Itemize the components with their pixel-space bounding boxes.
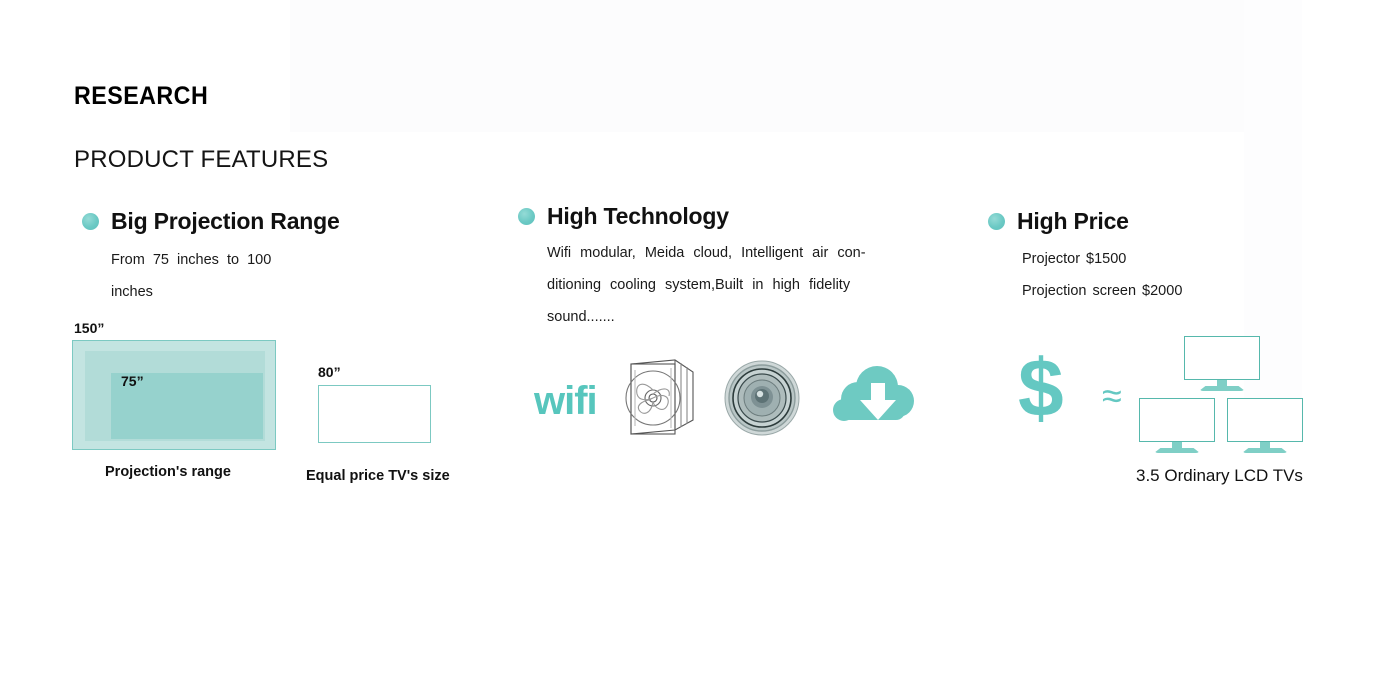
feature-block-high-technology: High Technology Wifi modular, Meida clou… [518, 203, 898, 333]
feature-block-high-price: High Price Projector $1500 Projection sc… [988, 208, 1318, 307]
tv-base [1154, 448, 1200, 453]
background-panel-top [290, 0, 1302, 132]
speaker-icon [723, 359, 801, 442]
teal-dot-icon [988, 213, 1005, 230]
projection-outer-label: 150” [74, 320, 104, 336]
feature-title: Big Projection Range [111, 208, 340, 235]
tv-size-rect [318, 385, 431, 443]
feature-title: High Price [1017, 208, 1129, 235]
feature-heading: High Technology [518, 203, 898, 230]
price-row-projector: Projector $1500 [1022, 243, 1318, 275]
feature-body-text: From 75 inches to 100 inches [111, 244, 303, 308]
lcd-tv-icon [1184, 336, 1260, 391]
tv-screen [1139, 398, 1215, 442]
tv-base [1199, 386, 1245, 391]
price-list: Projector $1500 Projection screen $2000 [1022, 243, 1318, 307]
tv-size-label: 80” [318, 364, 341, 380]
tv-stem [1260, 442, 1270, 448]
projection-mid-rect [85, 351, 265, 441]
cooling-fan-icon [623, 358, 697, 443]
feature-heading: Big Projection Range [82, 208, 412, 235]
tv-stem [1217, 380, 1227, 386]
eyebrow-title: RESEARCH [74, 82, 208, 111]
feature-body-line-1: Wifi modular, Meida cloud, Intelligent a… [547, 237, 898, 269]
feature-block-projection-range: Big Projection Range From 75 inches to 1… [82, 208, 412, 308]
tv-base [1242, 448, 1288, 453]
cloud-download-icon [827, 365, 919, 436]
feature-body-line-3: sound....... [547, 301, 898, 333]
approx-equals-icon: ≈ [1102, 378, 1122, 414]
feature-heading: High Price [988, 208, 1318, 235]
tv-screen [1227, 398, 1303, 442]
projection-diagram-caption: Projection's range [105, 464, 231, 480]
projection-inner-label: 75” [121, 373, 144, 389]
dollar-sign-icon: $ [1018, 348, 1064, 430]
teal-dot-icon [82, 213, 99, 230]
feature-title: High Technology [547, 203, 729, 230]
price-comparison-caption: 3.5 Ordinary LCD TVs [1136, 466, 1303, 486]
projection-outer-rect: 75” [72, 340, 276, 450]
tv-size-caption: Equal price TV's size [306, 468, 450, 484]
wifi-icon: wifi [534, 381, 597, 421]
lcd-tv-icon [1139, 398, 1215, 453]
technology-icon-row: wifi [534, 358, 919, 443]
price-row-screen: Projection screen $2000 [1022, 275, 1318, 307]
tv-screen [1184, 336, 1260, 380]
tv-stem [1172, 442, 1182, 448]
feature-body-line-2: ditioning cooling system,Built in high f… [547, 269, 898, 301]
lcd-tv-icon [1227, 398, 1303, 453]
teal-dot-icon [518, 208, 535, 225]
page-title: PRODUCT FEATURES [74, 146, 328, 174]
feature-body-text: Wifi modular, Meida cloud, Intelligent a… [547, 237, 898, 333]
